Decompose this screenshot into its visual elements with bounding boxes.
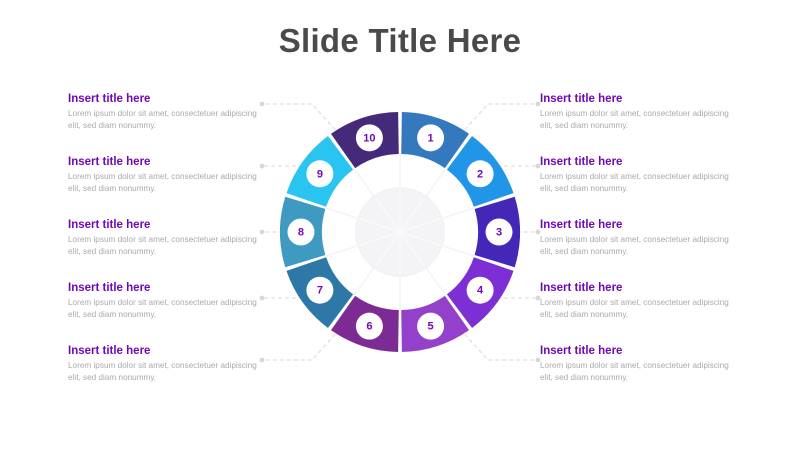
number-bubble-8[interactable]: 8 bbox=[287, 219, 314, 246]
number-bubble-label-1: 1 bbox=[428, 132, 434, 144]
number-bubble-label-4: 4 bbox=[477, 285, 484, 297]
text-block-right-4-body: Lorem ipsum dolor sit amet, consectetuer… bbox=[540, 297, 730, 320]
donut-spoke-9 bbox=[326, 208, 358, 218]
number-bubble-label-7: 7 bbox=[317, 285, 323, 297]
text-block-right-4[interactable]: Insert title here Lorem ipsum dolor sit … bbox=[540, 281, 730, 320]
donut-spoke-7 bbox=[354, 268, 374, 295]
text-block-left-5[interactable]: Insert title here Lorem ipsum dolor sit … bbox=[68, 344, 258, 383]
number-bubble-5[interactable]: 5 bbox=[417, 313, 444, 340]
connector-dot-left-5 bbox=[260, 358, 265, 363]
number-bubble-1[interactable]: 1 bbox=[417, 124, 444, 151]
number-bubble-label-8: 8 bbox=[298, 227, 304, 239]
donut-spoke-8 bbox=[326, 246, 358, 256]
donut-spoke-3 bbox=[442, 208, 474, 218]
number-bubble-label-5: 5 bbox=[428, 321, 434, 333]
connector-dot-left-2 bbox=[260, 164, 265, 169]
number-bubble-label-6: 6 bbox=[366, 321, 372, 333]
number-bubble-6[interactable]: 6 bbox=[356, 313, 383, 340]
connector-dot-left-1 bbox=[260, 102, 265, 107]
text-block-right-5-title: Insert title here bbox=[540, 344, 730, 358]
number-bubble-10[interactable]: 10 bbox=[356, 124, 383, 151]
text-block-left-4-title: Insert title here bbox=[68, 281, 258, 295]
text-block-right-3[interactable]: Insert title here Lorem ipsum dolor sit … bbox=[540, 218, 730, 257]
donut-chart-svg: 12345678910 bbox=[280, 112, 520, 352]
text-block-left-4[interactable]: Insert title here Lorem ipsum dolor sit … bbox=[68, 281, 258, 320]
number-bubble-3[interactable]: 3 bbox=[486, 219, 513, 246]
donut-spoke-2 bbox=[426, 169, 446, 196]
text-block-right-5[interactable]: Insert title here Lorem ipsum dolor sit … bbox=[540, 344, 730, 383]
number-bubble-4[interactable]: 4 bbox=[467, 277, 494, 304]
connector-dot-left-4 bbox=[260, 296, 265, 301]
text-block-left-4-body: Lorem ipsum dolor sit amet, consectetuer… bbox=[68, 297, 258, 320]
text-block-right-2-title: Insert title here bbox=[540, 155, 730, 169]
text-block-left-3[interactable]: Insert title here Lorem ipsum dolor sit … bbox=[68, 218, 258, 257]
text-block-left-1-title: Insert title here bbox=[68, 92, 258, 106]
number-bubble-label-10: 10 bbox=[363, 132, 375, 144]
number-bubble-label-2: 2 bbox=[477, 168, 483, 180]
number-bubble-2[interactable]: 2 bbox=[467, 160, 494, 187]
text-block-left-1[interactable]: Insert title here Lorem ipsum dolor sit … bbox=[68, 92, 258, 131]
number-bubble-label-3: 3 bbox=[496, 227, 502, 239]
text-block-right-2-body: Lorem ipsum dolor sit amet, consectetuer… bbox=[540, 171, 730, 194]
text-block-left-3-title: Insert title here bbox=[68, 218, 258, 232]
text-block-right-3-title: Insert title here bbox=[540, 218, 730, 232]
page-title: Slide Title Here bbox=[0, 22, 800, 60]
text-block-left-5-body: Lorem ipsum dolor sit amet, consectetuer… bbox=[68, 360, 258, 383]
text-block-left-5-title: Insert title here bbox=[68, 344, 258, 358]
donut-chart: 12345678910 bbox=[280, 112, 520, 352]
connector-dot-left-3 bbox=[260, 230, 265, 235]
text-block-right-1[interactable]: Insert title here Lorem ipsum dolor sit … bbox=[540, 92, 730, 131]
number-bubble-label-9: 9 bbox=[317, 168, 323, 180]
text-block-left-3-body: Lorem ipsum dolor sit amet, consectetuer… bbox=[68, 234, 258, 257]
donut-inner-spokes bbox=[326, 154, 474, 310]
slide-canvas: Slide Title Here bbox=[0, 0, 800, 450]
text-block-right-1-body: Lorem ipsum dolor sit amet, consectetuer… bbox=[540, 108, 730, 131]
donut-spoke-10 bbox=[354, 169, 374, 196]
donut-spoke-4 bbox=[442, 246, 474, 256]
text-block-right-5-body: Lorem ipsum dolor sit amet, consectetuer… bbox=[540, 360, 730, 383]
text-block-right-3-body: Lorem ipsum dolor sit amet, consectetuer… bbox=[540, 234, 730, 257]
text-block-left-1-body: Lorem ipsum dolor sit amet, consectetuer… bbox=[68, 108, 258, 131]
text-block-right-4-title: Insert title here bbox=[540, 281, 730, 295]
number-bubble-7[interactable]: 7 bbox=[306, 277, 333, 304]
text-block-right-1-title: Insert title here bbox=[540, 92, 730, 106]
text-block-right-2[interactable]: Insert title here Lorem ipsum dolor sit … bbox=[540, 155, 730, 194]
text-block-left-2[interactable]: Insert title here Lorem ipsum dolor sit … bbox=[68, 155, 258, 194]
number-bubble-9[interactable]: 9 bbox=[306, 160, 333, 187]
donut-spoke-5 bbox=[426, 268, 446, 295]
text-block-left-2-body: Lorem ipsum dolor sit amet, consectetuer… bbox=[68, 171, 258, 194]
text-block-left-2-title: Insert title here bbox=[68, 155, 258, 169]
